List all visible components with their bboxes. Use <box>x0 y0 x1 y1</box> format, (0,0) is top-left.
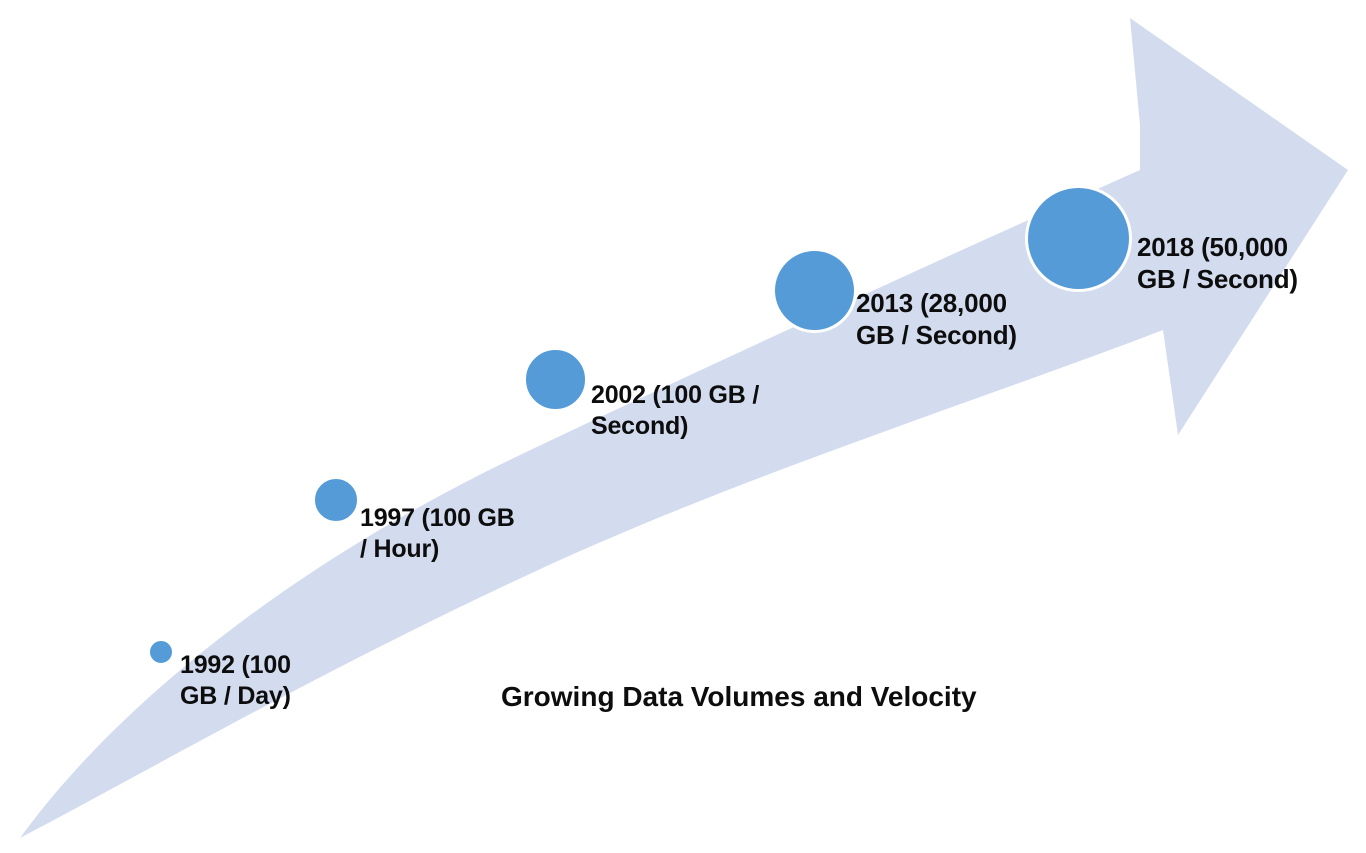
milestone-label-2002: 2002 (100 GB /Second) <box>591 380 821 441</box>
milestone-label-2018-line1: 2018 (50,000 <box>1137 232 1288 262</box>
milestone-label-1997-line2: / Hour) <box>360 535 439 563</box>
bubble-2002[interactable] <box>523 347 588 412</box>
bubble-2018[interactable] <box>1025 185 1132 292</box>
bubble-2013[interactable] <box>772 248 857 333</box>
milestone-label-2002-line2: Second) <box>591 412 688 440</box>
milestone-label-2013-line1: 2013 (28,000 <box>856 288 1007 318</box>
milestone-label-2013: 2013 (28,000GB / Second) <box>856 288 1086 351</box>
milestone-label-2013-line2: GB / Second) <box>856 320 1017 350</box>
bubble-1992[interactable] <box>147 638 175 666</box>
milestone-label-2002-line1: 2002 (100 GB / <box>591 381 759 409</box>
infographic-canvas: 1992 (100GB / Day) 1997 (100 GB/ Hour) 2… <box>0 0 1366 853</box>
bubble-1997[interactable] <box>312 476 360 524</box>
milestone-label-1997: 1997 (100 GB/ Hour) <box>360 503 560 564</box>
milestone-label-1992: 1992 (100GB / Day) <box>180 650 330 711</box>
milestone-label-1992-line2: GB / Day) <box>180 682 291 710</box>
chart-title: Growing Data Volumes and Velocity <box>501 681 977 713</box>
milestone-label-2018-line2: GB / Second) <box>1137 264 1298 294</box>
milestone-label-1997-line1: 1997 (100 GB <box>360 504 515 532</box>
milestone-label-2018: 2018 (50,000GB / Second) <box>1137 232 1366 295</box>
milestone-label-1992-line1: 1992 (100 <box>180 651 291 679</box>
